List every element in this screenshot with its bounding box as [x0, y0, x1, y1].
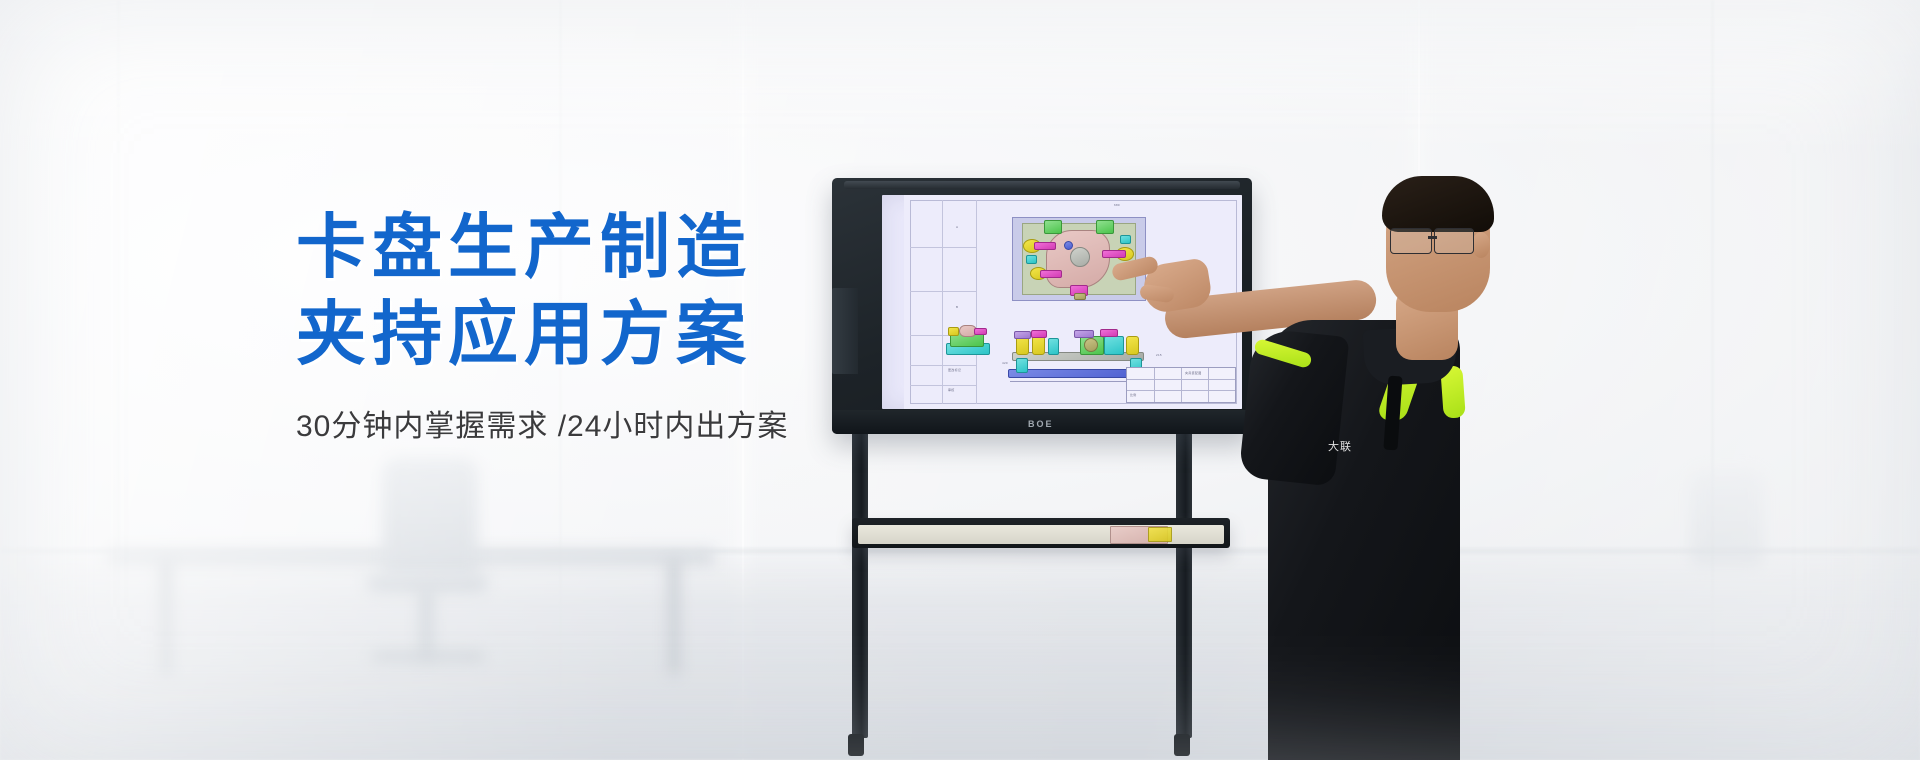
cad-front-cap-1 [1014, 331, 1031, 339]
cad-grid-h-5 [910, 385, 976, 386]
presenter-chest-logo: 大联 [1328, 438, 1352, 454]
cad-front-cyl-2 [1032, 336, 1045, 355]
cad-grid-h-1 [910, 247, 976, 248]
cad-grid-v-1 [942, 200, 943, 404]
cad-dim-top: 680 [1114, 203, 1120, 207]
cad-dim-left: 420 [1002, 361, 1008, 365]
cad-clamp-top-left [1044, 220, 1062, 234]
presenter-glasses-right-lens [1434, 228, 1474, 254]
cad-locator-block-2 [1120, 235, 1131, 244]
cad-front-cap-2 [1031, 330, 1047, 338]
cad-grid-h-4 [910, 365, 976, 366]
cad-clamp-arm-right [1102, 250, 1126, 258]
cad-iso-clamp [948, 327, 959, 336]
cad-grid-h-2 [910, 291, 976, 292]
presenter: 大联 [1150, 170, 1610, 760]
cad-casting-bore-1 [1070, 247, 1090, 267]
cad-view-tag-b: B [956, 305, 958, 309]
cad-casting-bore-2 [1064, 241, 1073, 250]
cad-front-riser-left [1016, 358, 1028, 373]
cart-leg-left [852, 428, 868, 738]
display-brand-logo: BOE [1028, 419, 1054, 429]
cad-title-block-scale: 比例 [1130, 393, 1137, 397]
cad-iso-arm [974, 328, 987, 335]
presenter-ear [1472, 232, 1490, 258]
cad-clamp-top-right [1096, 220, 1114, 234]
cad-support-pin [1074, 293, 1086, 300]
cad-side-label-2: 审核 [948, 388, 955, 392]
cad-front-block-1 [1048, 338, 1059, 355]
cad-grid-v-2 [976, 200, 977, 404]
cad-front-cyl-3 [1126, 336, 1139, 355]
cart-caster-left [848, 734, 864, 756]
presenter-glasses-left-lens [1390, 228, 1432, 254]
cad-front-hub [1084, 338, 1098, 352]
cad-side-label-1: 更改标记 [948, 368, 961, 372]
cad-front-cap-4 [1100, 329, 1118, 337]
cad-view-tag-a: A [956, 225, 958, 229]
presenter-glasses-bridge [1428, 236, 1437, 239]
cad-front-cap-3 [1074, 330, 1094, 338]
cad-clamp-arm-lower [1040, 270, 1062, 278]
display-rear-bracket [832, 288, 858, 374]
cad-locator-block-1 [1026, 255, 1037, 264]
hero-banner: 卡盘生产制造 夹持应用方案 30分钟内掌握需求 /24小时内出方案 [0, 0, 1920, 760]
cad-front-block-2 [1104, 336, 1124, 355]
presenter-hair [1382, 176, 1494, 232]
cad-clamp-arm-left [1034, 242, 1056, 250]
